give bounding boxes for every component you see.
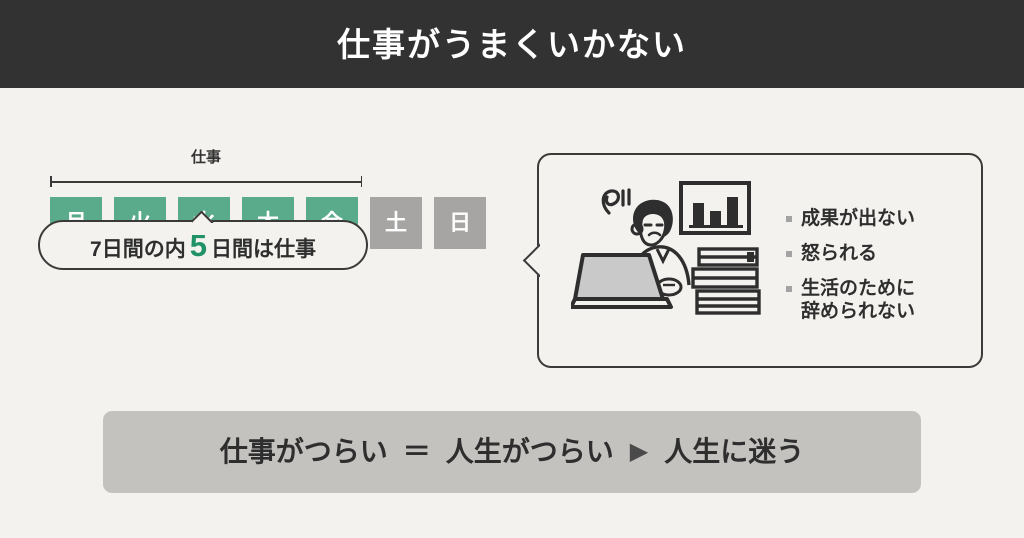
workdays-callout-text: 7日間の内 5 日間は仕事 bbox=[90, 230, 316, 261]
weekday-box-sun: 日 bbox=[434, 197, 486, 249]
speech-bubble-tail bbox=[522, 243, 540, 277]
conclusion-part-3: 人生に迷う bbox=[662, 438, 806, 466]
conclusion-text: 仕事がつらい ＝ 人生がつらい ▶ 人生に迷う bbox=[218, 438, 807, 466]
workdays-callout-pill: 7日間の内 5 日間は仕事 bbox=[38, 220, 368, 270]
book-stack-icon bbox=[693, 249, 759, 313]
weekday-label: 土 bbox=[385, 212, 407, 234]
list-item: 成果が出ない bbox=[786, 207, 971, 231]
bullet-label-multiline: 生活のために 辞められない bbox=[801, 277, 915, 325]
square-bullet-icon bbox=[786, 216, 792, 222]
page-title: 仕事がうまくいかない bbox=[337, 28, 687, 61]
list-item: 生活のために 辞められない bbox=[786, 277, 971, 325]
square-bullet-icon bbox=[786, 251, 792, 257]
bullet-label-line1: 生活のために bbox=[801, 278, 915, 299]
right-triangle-icon: ▶ bbox=[616, 440, 662, 464]
reasons-bullet-list: 成果が出ない 怒られる 生活のために 辞められない bbox=[786, 207, 971, 324]
square-bullet-icon bbox=[786, 286, 792, 292]
stressed-worker-illustration bbox=[571, 175, 771, 323]
bar-chart-board-icon bbox=[681, 183, 749, 233]
callout-number: 5 bbox=[186, 230, 211, 261]
conclusion-banner: 仕事がつらい ＝ 人生がつらい ▶ 人生に迷う bbox=[103, 411, 921, 493]
callout-prefix: 7日間の内 bbox=[90, 239, 186, 260]
header-bar: 仕事がうまくいかない bbox=[0, 0, 1024, 88]
reasons-speech-bubble: 成果が出ない 怒られる 生活のために 辞められない bbox=[537, 153, 983, 368]
measure-cap-right bbox=[361, 176, 363, 187]
weekday-box-sat: 土 bbox=[370, 197, 422, 249]
conclusion-part-2: 人生がつらい bbox=[444, 438, 616, 466]
measure-bar bbox=[50, 176, 362, 187]
weekday-label: 日 bbox=[449, 212, 471, 234]
pill-notch-pointer bbox=[192, 211, 214, 223]
equals-sign: ＝ bbox=[390, 438, 444, 466]
bullet-label: 怒られる bbox=[801, 242, 877, 266]
conclusion-part-1: 仕事がつらい bbox=[218, 438, 390, 466]
callout-suffix: 日間は仕事 bbox=[211, 239, 316, 260]
stress-squiggle-icon bbox=[603, 190, 629, 213]
work-span-label: 仕事 bbox=[50, 150, 362, 165]
bullet-label-line2: 辞められない bbox=[801, 301, 915, 322]
list-item: 怒られる bbox=[786, 242, 971, 266]
content-stage: 仕事 月 火 水 木 金 土 bbox=[0, 88, 1024, 538]
bullet-label: 成果が出ない bbox=[801, 207, 915, 231]
measure-line bbox=[50, 181, 362, 183]
